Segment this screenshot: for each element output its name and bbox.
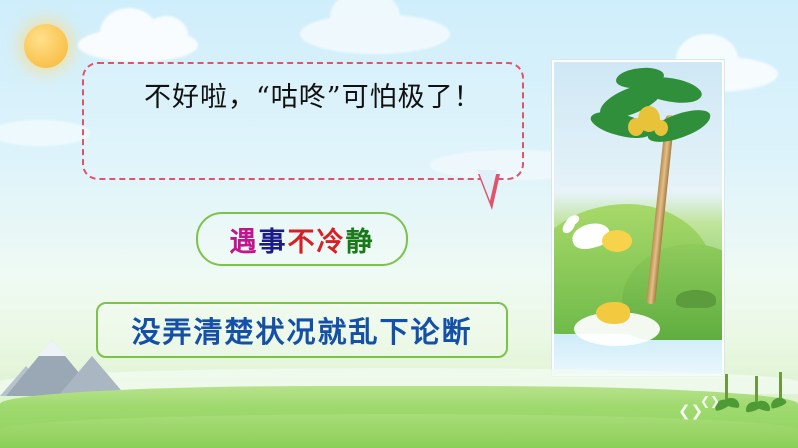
papaya-fruit-icon [654,120,668,136]
rabbit-running-under-papaya-tree-illustration [552,60,724,376]
rock-icon [676,290,716,308]
chick-icon [602,230,632,252]
cloud-icon [300,14,450,54]
small-palm-trunk [755,376,758,404]
duck-icon [596,302,630,324]
slide-canvas: 不好啦，“咕咚”可怕极了！ 遇事不冷静 没弄清楚状况就乱下论断 [0,0,798,448]
speech-bubble-text: 不好啦，“咕咚”可怕极了！ [100,78,512,119]
mountain-snow-cap [38,340,66,356]
speech-bubble: 不好啦，“咕咚”可怕极了！ [82,62,524,180]
keyword-char-2: 事 [259,227,288,258]
keyword-tag-explanation-text: 没弄清楚状况就乱下论断 [131,309,472,351]
small-palm-trunk [779,372,782,400]
cloud-icon [78,28,198,62]
bird-icon: ❮❯ [700,394,720,408]
keyword-char-4: 冷 [317,227,346,258]
papaya-fruit-icon [628,118,644,136]
cloud-icon [0,120,90,146]
keyword-tag-explanation: 没弄清楚状况就乱下论断 [96,302,508,358]
keyword-tag-attitude: 遇事不冷静 [196,212,408,266]
keyword-char-3: 不 [288,227,317,258]
keyword-char-1: 遇 [230,227,259,258]
sun-icon [24,24,68,68]
keyword-char-5: 静 [346,227,375,258]
keyword-tag-attitude-text: 遇事不冷静 [230,220,375,259]
